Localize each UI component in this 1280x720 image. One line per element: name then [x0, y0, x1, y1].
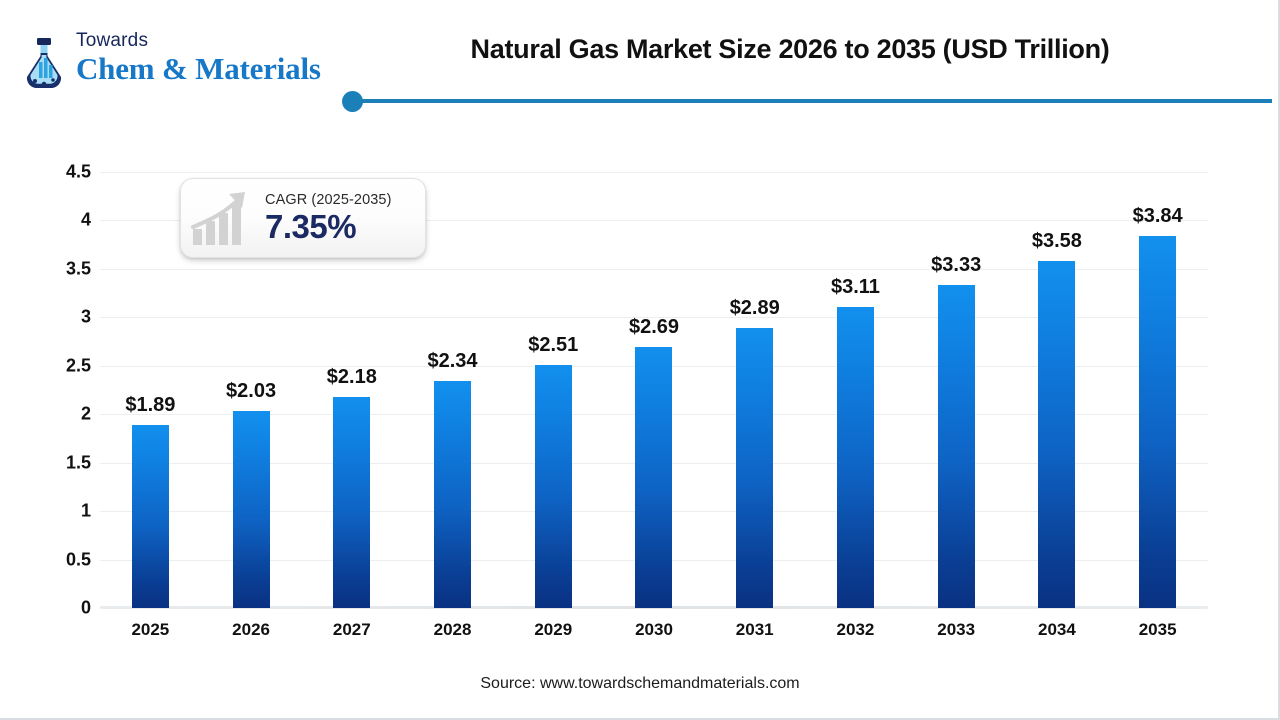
- cagr-callout: CAGR (2025-2035) 7.35%: [180, 178, 426, 258]
- y-axis-tick-label: 2.5: [45, 355, 91, 376]
- bar[interactable]: [1139, 236, 1176, 608]
- bar-group[interactable]: [402, 381, 503, 608]
- x-axis-tick-label: 2029: [534, 620, 572, 640]
- bar-value-label: $3.58: [1032, 230, 1082, 253]
- header-divider: [352, 99, 1272, 103]
- x-axis-tick-label: 2033: [937, 620, 975, 640]
- bar[interactable]: [233, 411, 270, 608]
- bar[interactable]: [132, 425, 169, 608]
- logo-line-1: Towards: [76, 30, 321, 52]
- y-axis-tick-label: 2: [45, 404, 91, 425]
- bar-group[interactable]: [100, 425, 201, 608]
- x-axis-tick-label: 2028: [434, 620, 472, 640]
- bar[interactable]: [635, 347, 672, 608]
- bar-group[interactable]: [301, 397, 402, 608]
- x-axis-tick-label: 2025: [131, 620, 169, 640]
- y-axis-tick-label: 4: [45, 210, 91, 231]
- bar[interactable]: [938, 285, 975, 608]
- flask-icon: [18, 36, 70, 88]
- cagr-label: CAGR (2025-2035): [265, 192, 392, 208]
- y-axis-tick-label: 4.5: [45, 162, 91, 183]
- page-title: Natural Gas Market Size 2026 to 2035 (US…: [350, 34, 1230, 65]
- bar-value-label: $2.18: [327, 366, 377, 389]
- bar-group[interactable]: [503, 365, 604, 608]
- y-axis-tick-label: 0: [45, 598, 91, 619]
- x-axis-tick-label: 2027: [333, 620, 371, 640]
- bar-group[interactable]: [201, 411, 302, 608]
- x-axis-tick-label: 2032: [837, 620, 875, 640]
- header-bullet-dot: [342, 91, 363, 112]
- bar[interactable]: [736, 328, 773, 608]
- brand-logo: Towards Chem & Materials: [18, 30, 348, 92]
- chart-page: Towards Chem & Materials Natural Gas Mar…: [0, 0, 1280, 720]
- bar-value-label: $2.34: [428, 350, 478, 373]
- bar[interactable]: [333, 397, 370, 608]
- bar-group[interactable]: [805, 307, 906, 608]
- y-axis-tick-label: 0.5: [45, 549, 91, 570]
- x-axis-tick-label: 2031: [736, 620, 774, 640]
- bar-value-label: $2.51: [528, 334, 578, 357]
- bar-group[interactable]: [1107, 236, 1208, 608]
- bar-value-label: $3.84: [1133, 205, 1183, 228]
- bar-value-label: $2.89: [730, 297, 780, 320]
- x-axis-tick-label: 2035: [1139, 620, 1177, 640]
- bar-group[interactable]: [1007, 261, 1108, 608]
- bar-value-label: $3.33: [931, 254, 981, 277]
- bar-value-label: $2.69: [629, 316, 679, 339]
- growth-bar-chart-icon: [189, 187, 261, 249]
- source-caption: Source: www.towardschemandmaterials.com: [0, 675, 1280, 693]
- bar[interactable]: [1038, 261, 1075, 608]
- bar[interactable]: [837, 307, 874, 608]
- y-axis: 00.511.522.533.544.5: [42, 172, 92, 608]
- bar-group[interactable]: [704, 328, 805, 608]
- bar-value-label: $1.89: [125, 394, 175, 417]
- cagr-value: 7.35%: [265, 209, 392, 245]
- y-axis-tick-label: 3: [45, 307, 91, 328]
- y-axis-tick-label: 1: [45, 501, 91, 522]
- bar-group[interactable]: [906, 285, 1007, 608]
- x-axis-tick-label: 2026: [232, 620, 270, 640]
- header: Towards Chem & Materials Natural Gas Mar…: [0, 0, 1280, 120]
- bar-group[interactable]: [604, 347, 705, 608]
- bar-value-label: $2.03: [226, 380, 276, 403]
- y-axis-tick-label: 1.5: [45, 452, 91, 473]
- bar[interactable]: [535, 365, 572, 608]
- bar-value-label: $3.11: [831, 276, 880, 299]
- x-axis-tick-label: 2034: [1038, 620, 1076, 640]
- bar[interactable]: [434, 381, 471, 608]
- x-axis-tick-label: 2030: [635, 620, 673, 640]
- gridline: [100, 172, 1208, 173]
- logo-line-2: Chem & Materials: [76, 52, 321, 86]
- y-axis-tick-label: 3.5: [45, 258, 91, 279]
